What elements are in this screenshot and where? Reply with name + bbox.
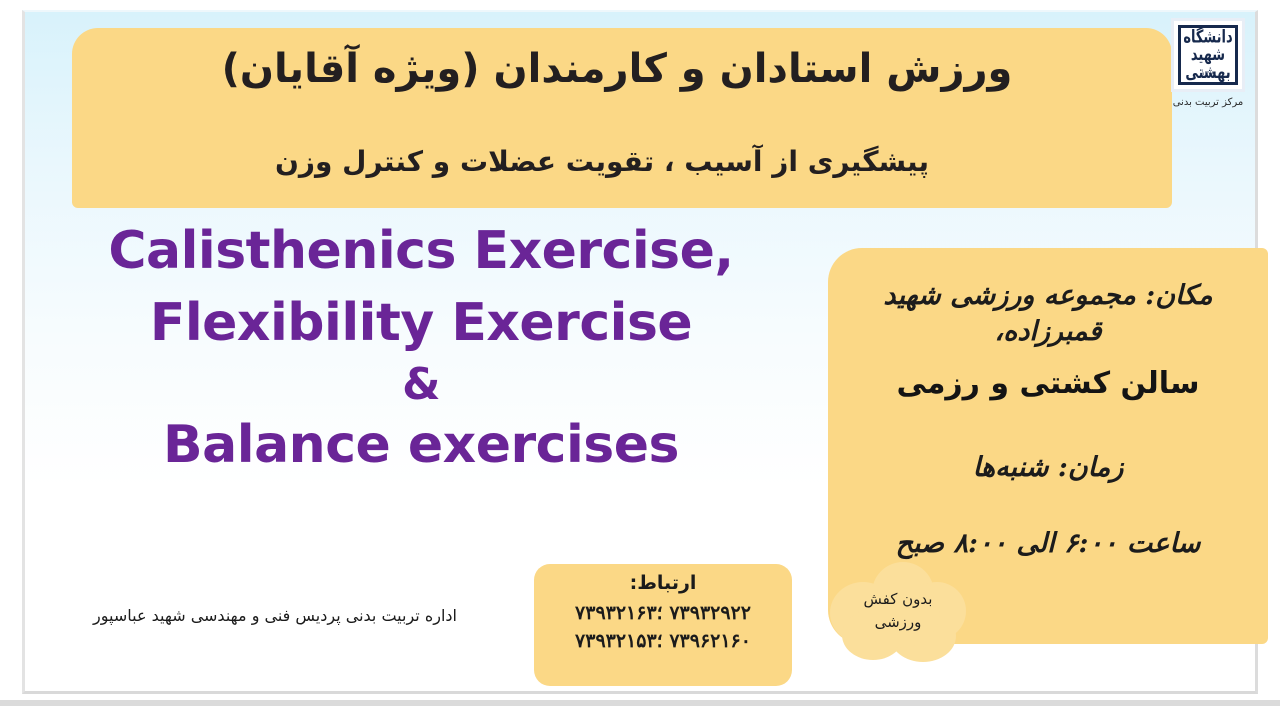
info-place-line-1: مکان: مجموعه ورزشی شهید قمبرزاده، — [836, 278, 1260, 351]
cloud-callout-text: بدون کفش ورزشی — [824, 588, 972, 635]
poster-slide: ورزش استادان و کارمندان (ویژه آقایان) پی… — [0, 0, 1280, 720]
headline-line-1: Calisthenics Exercise, — [26, 216, 816, 288]
logo-caption: مرکز تربیت بدنی — [1156, 97, 1260, 108]
poster-title: ورزش استادان و کارمندان (ویژه آقایان) — [72, 44, 1162, 94]
contact-phone-line-1: ۷۳۹۳۲۹۲۲ ؛۷۳۹۳۲۱۶۳ — [534, 602, 792, 624]
logo-year-text: ۱۳۷۸ — [1181, 70, 1235, 77]
contact-title: ارتباط: — [534, 572, 792, 594]
logo-inner-frame: دانشگاه شهید بهشتی ۱۳۷۸ — [1178, 25, 1238, 85]
info-day: زمان: شنبه‌ها — [836, 452, 1260, 483]
headline-ampersand: & — [26, 360, 816, 411]
headline-line-2: Flexibility Exercise — [26, 288, 816, 360]
headline-line-4: Balance exercises — [26, 410, 816, 482]
english-headline: Calisthenics Exercise, Flexibility Exerc… — [26, 216, 816, 482]
poster-subtitle: پیشگیری از آسیب ، تقویت عضلات و کنترل وز… — [72, 145, 1132, 179]
university-logo-block: دانشگاه شهید بهشتی ۱۳۷۸ مرکز تربیت بدنی — [1156, 18, 1260, 108]
slide-bottom-shadow — [0, 700, 1280, 706]
cloud-text-line-2: ورزشی — [824, 611, 972, 634]
info-place-line-2: سالن کشتی و رزمی — [836, 366, 1260, 401]
footer-organization: اداره تربیت بدنی پردیس فنی و مهندسی شهید… — [60, 606, 490, 625]
cloud-text-line-1: بدون کفش — [824, 588, 972, 611]
university-logo-icon: دانشگاه شهید بهشتی ۱۳۷۸ — [1171, 18, 1245, 92]
contact-phone-line-2: ۷۳۹۶۲۱۶۰ ؛۷۳۹۳۲۱۵۳ — [534, 630, 792, 652]
